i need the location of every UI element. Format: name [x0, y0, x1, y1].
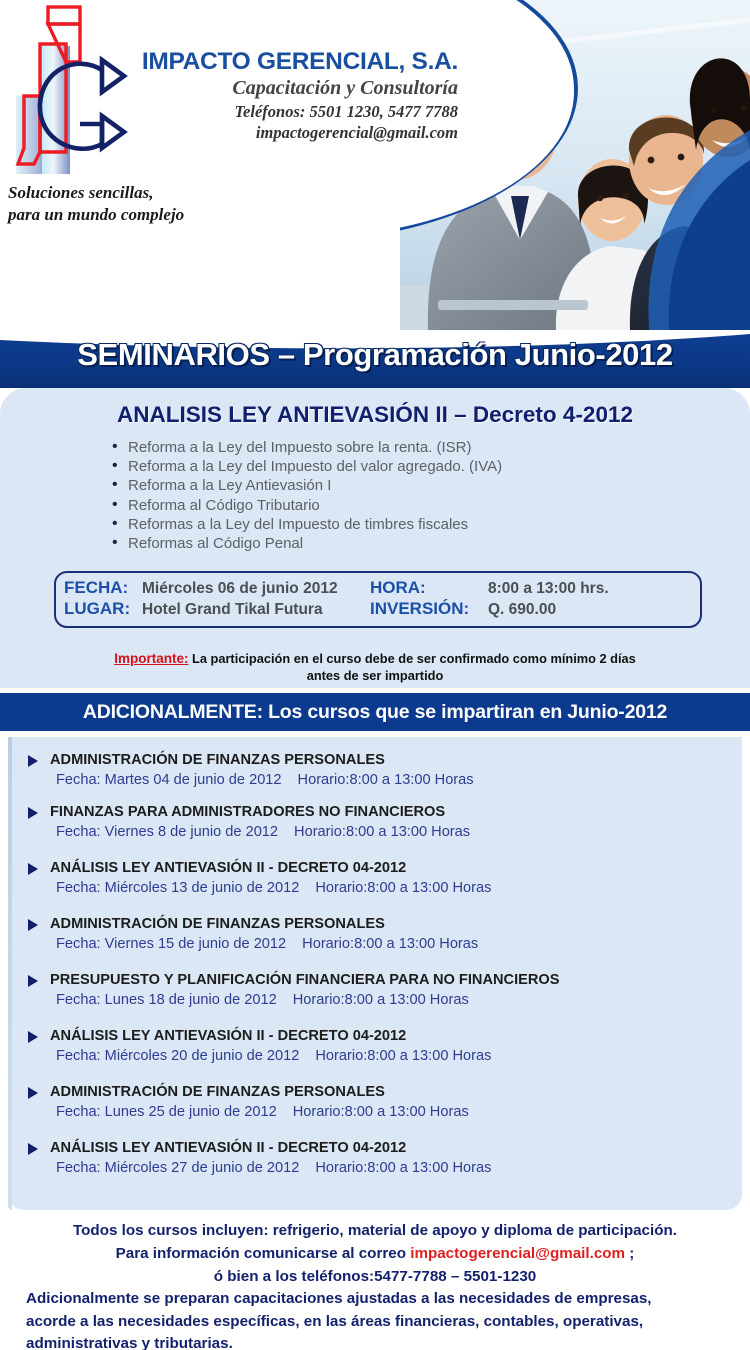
tagline-line-1: Soluciones sencillas, — [8, 182, 184, 204]
course-hours: Horario:8:00 a 13:00 Horas — [293, 1104, 469, 1120]
seminar-topic-item: Reformas al Código Penal — [110, 534, 502, 553]
hora-label: HORA: — [370, 578, 488, 598]
course-item[interactable]: ADMINISTRACIÓN DE FINANZAS PERSONALESFec… — [26, 751, 474, 791]
company-name: IMPACTO GERENCIAL, S.A. — [128, 48, 458, 76]
course-date: Fecha: Lunes 18 de junio de 2012 — [56, 992, 277, 1008]
course-item[interactable]: ANÁLISIS LEY ANTIEVASIÓN II - DECRETO 04… — [26, 1027, 491, 1067]
fecha-label: FECHA: — [64, 578, 142, 598]
fecha-value: Miércoles 06 de junio 2012 — [142, 580, 370, 598]
footer-line-2-post: ; — [625, 1245, 634, 1262]
lugar-value: Hotel Grand Tikal Futura — [142, 601, 370, 619]
course-name: ADMINISTRACIÓN DE FINANZAS PERSONALES — [26, 915, 478, 934]
course-schedule: Fecha: Lunes 25 de junio de 2012Horario:… — [26, 1102, 469, 1123]
company-phones: Teléfonos: 5501 1230, 5477 7788 — [128, 102, 458, 122]
course-name: ADMINISTRACIÓN DE FINANZAS PERSONALES — [26, 751, 474, 770]
course-schedule: Fecha: Lunes 18 de junio de 2012Horario:… — [26, 990, 559, 1011]
flyer-page: IMPACTO GERENCIAL, S.A. Capacitación y C… — [0, 0, 750, 1350]
course-hours: Horario:8:00 a 13:00 Horas — [298, 772, 474, 788]
course-item[interactable]: FINANZAS PARA ADMINISTRADORES NO FINANCI… — [26, 803, 470, 843]
course-name: ADMINISTRACIÓN DE FINANZAS PERSONALES — [26, 1083, 469, 1102]
course-name: FINANZAS PARA ADMINISTRADORES NO FINANCI… — [26, 803, 470, 822]
course-hours: Horario:8:00 a 13:00 Horas — [293, 992, 469, 1008]
footer-extra-line-2: acorde a las necesidades específicas, en… — [26, 1311, 732, 1334]
course-hours: Horario:8:00 a 13:00 Horas — [302, 936, 478, 952]
course-date: Fecha: Lunes 25 de junio de 2012 — [56, 1104, 277, 1120]
course-hours: Horario:8:00 a 13:00 Horas — [315, 1048, 491, 1064]
course-date: Fecha: Viernes 15 de junio de 2012 — [56, 936, 286, 952]
adicionalmente-banner: ADICIONALMENTE: Los cursos que se impart… — [0, 693, 750, 731]
footer-line-2-pre: Para información comunicarse al correo — [116, 1245, 411, 1262]
footer-line-2: Para información comunicarse al correo i… — [0, 1242, 750, 1265]
footer-extra-line-3: administrativas y tributarias. — [26, 1333, 732, 1350]
course-item[interactable]: ADMINISTRACIÓN DE FINANZAS PERSONALESFec… — [26, 915, 478, 955]
seminarios-banner: SEMINARIOS – Programación Junio-2012 — [0, 331, 750, 388]
inversion-value: Q. 690.00 — [488, 601, 608, 619]
seminar-topic-item: Reforma al Código Tributario — [110, 496, 502, 515]
company-logo-icon — [6, 4, 136, 194]
company-tagline: Soluciones sencillas, para un mundo comp… — [8, 182, 184, 226]
event-details-grid: FECHA: Miércoles 06 de junio 2012 HORA: … — [64, 578, 608, 619]
course-hours: Horario:8:00 a 13:00 Horas — [315, 880, 491, 896]
course-name: ANÁLISIS LEY ANTIEVASIÓN II - DECRETO 04… — [26, 1027, 491, 1046]
footer-line-1: Todos los cursos incluyen: refrigerio, m… — [0, 1219, 750, 1242]
course-date: Fecha: Miércoles 27 de junio de 2012 — [56, 1160, 299, 1176]
course-name: ANÁLISIS LEY ANTIEVASIÓN II - DECRETO 04… — [26, 1139, 491, 1158]
importante-label: Importante: — [114, 651, 188, 666]
importante-text-1: La participación en el curso debe de ser… — [192, 651, 636, 666]
hora-value: 8:00 a 13:00 hrs. — [488, 580, 608, 598]
seminarios-title: SEMINARIOS – Programación Junio-2012 — [0, 337, 750, 373]
course-schedule: Fecha: Martes 04 de junio de 2012Horario… — [26, 770, 474, 791]
footer-extra-block: Adicionalmente se preparan capacitacione… — [26, 1288, 732, 1350]
header-section: IMPACTO GERENCIAL, S.A. Capacitación y C… — [0, 0, 750, 330]
company-subtitle: Capacitación y Consultoría — [128, 77, 458, 100]
course-schedule: Fecha: Miércoles 20 de junio de 2012Hora… — [26, 1046, 491, 1067]
adicionalmente-title: ADICIONALMENTE: Los cursos que se impart… — [0, 701, 750, 724]
importante-line-1: Importante: La participación en el curso… — [0, 650, 750, 667]
brand-text-block: IMPACTO GERENCIAL, S.A. Capacitación y C… — [128, 48, 458, 143]
course-schedule: Fecha: Miércoles 13 de junio de 2012Hora… — [26, 878, 491, 899]
seminar-main-title: ANALISIS LEY ANTIEVASIÓN II – Decreto 4-… — [0, 402, 750, 428]
footer-info-block: Todos los cursos incluyen: refrigerio, m… — [0, 1219, 750, 1288]
course-schedule: Fecha: Viernes 8 de junio de 2012Horario… — [26, 822, 470, 843]
seminar-topic-item: Reforma a la Ley del Impuesto del valor … — [110, 457, 502, 476]
seminar-topic-item: Reforma a la Ley del Impuesto sobre la r… — [110, 438, 502, 457]
seminar-topic-item: Reformas a la Ley del Impuesto de timbre… — [110, 515, 502, 534]
course-date: Fecha: Martes 04 de junio de 2012 — [56, 772, 282, 788]
course-date: Fecha: Miércoles 20 de junio de 2012 — [56, 1048, 299, 1064]
importante-text-2: antes de ser impartido — [0, 667, 750, 684]
main-seminar-panel: ANALISIS LEY ANTIEVASIÓN II – Decreto 4-… — [0, 388, 750, 688]
course-name: PRESUPUESTO Y PLANIFICACIÓN FINANCIERA P… — [26, 971, 559, 990]
footer-email[interactable]: impactogerencial@gmail.com — [410, 1245, 625, 1262]
course-item[interactable]: ANÁLISIS LEY ANTIEVASIÓN II - DECRETO 04… — [26, 1139, 491, 1179]
event-details-box: FECHA: Miércoles 06 de junio 2012 HORA: … — [54, 571, 702, 628]
course-date: Fecha: Viernes 8 de junio de 2012 — [56, 824, 278, 840]
course-name: ANÁLISIS LEY ANTIEVASIÓN II - DECRETO 04… — [26, 859, 491, 878]
seminar-topic-item: Reforma a la Ley Antievasión I — [110, 476, 502, 495]
inversion-label: INVERSIÓN: — [370, 599, 488, 619]
course-schedule: Fecha: Viernes 15 de junio de 2012Horari… — [26, 934, 478, 955]
course-item[interactable]: PRESUPUESTO Y PLANIFICACIÓN FINANCIERA P… — [26, 971, 559, 1011]
course-item[interactable]: ADMINISTRACIÓN DE FINANZAS PERSONALESFec… — [26, 1083, 469, 1123]
course-schedule: Fecha: Miércoles 27 de junio de 2012Hora… — [26, 1158, 491, 1179]
course-list-panel: ADMINISTRACIÓN DE FINANZAS PERSONALESFec… — [8, 737, 742, 1210]
lugar-label: LUGAR: — [64, 599, 142, 619]
company-email: impactogerencial@gmail.com — [128, 123, 458, 143]
footer-line-3: ó bien a los teléfonos:5477-7788 – 5501-… — [0, 1265, 750, 1288]
importante-note: Importante: La participación en el curso… — [0, 650, 750, 684]
course-date: Fecha: Miércoles 13 de junio de 2012 — [56, 880, 299, 896]
footer-extra-line-1: Adicionalmente se preparan capacitacione… — [26, 1288, 732, 1311]
course-hours: Horario:8:00 a 13:00 Horas — [315, 1160, 491, 1176]
seminar-topics-list: Reforma a la Ley del Impuesto sobre la r… — [110, 438, 502, 553]
course-item[interactable]: ANÁLISIS LEY ANTIEVASIÓN II - DECRETO 04… — [26, 859, 491, 899]
tagline-line-2: para un mundo complejo — [8, 204, 184, 226]
course-hours: Horario:8:00 a 13:00 Horas — [294, 824, 470, 840]
